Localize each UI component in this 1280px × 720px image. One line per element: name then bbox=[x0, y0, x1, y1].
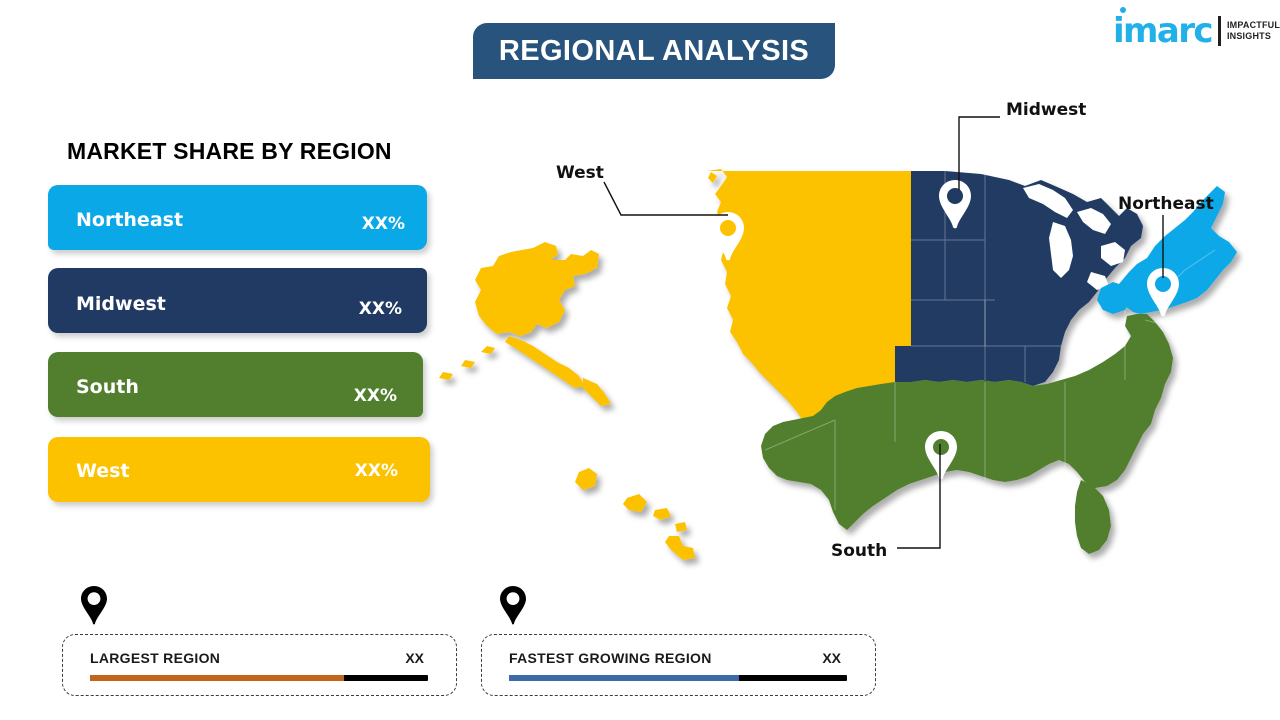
infographic-canvas: REGIONAL ANALYSIS imarc IMPACTFUL INSIGH… bbox=[0, 0, 1280, 720]
map-label-midwest: Midwest bbox=[1006, 100, 1086, 120]
leader-lines bbox=[0, 0, 1280, 720]
map-label-northeast: Northeast bbox=[1118, 194, 1214, 214]
map-label-south: South bbox=[831, 541, 887, 561]
map-label-west: West bbox=[556, 163, 604, 183]
